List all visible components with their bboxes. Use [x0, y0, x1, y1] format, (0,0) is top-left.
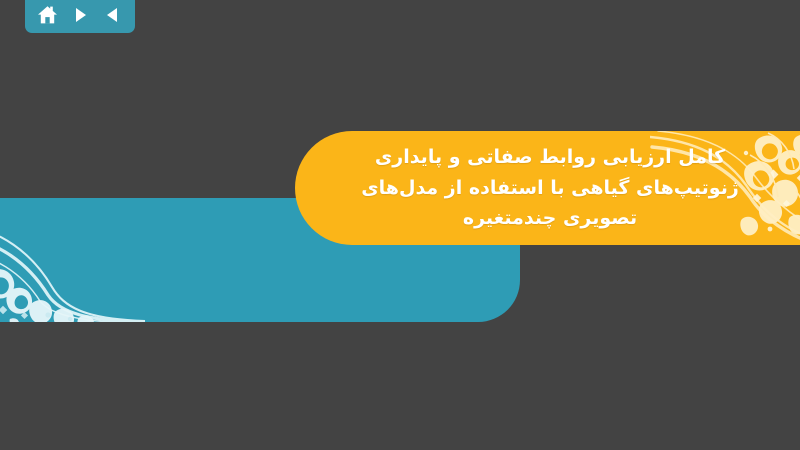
navigation-bar: [25, 0, 135, 33]
back-button[interactable]: [100, 2, 126, 28]
home-button[interactable]: [34, 2, 60, 28]
title-line-2: ژنوتیپ‌های گیاهی با استفاده از مدل‌های: [361, 173, 739, 204]
title-line-1: کامل ارزیابی روابط صفاتی و پایداری: [375, 142, 725, 173]
forward-button[interactable]: [67, 2, 93, 28]
arabesque-ornament-bottom-left: [0, 207, 145, 322]
title-line-3: تصویری چندمتغیره: [463, 203, 637, 234]
forward-icon: [71, 6, 89, 24]
title-banner: کامل ارزیابی روابط صفاتی و پایداری ژنوتی…: [295, 131, 800, 245]
slide-title: کامل ارزیابی روابط صفاتی و پایداری ژنوتی…: [295, 131, 800, 245]
home-icon: [37, 5, 58, 25]
slide-canvas: کامل ارزیابی روابط صفاتی و پایداری ژنوتی…: [0, 0, 800, 450]
back-icon: [104, 6, 122, 24]
